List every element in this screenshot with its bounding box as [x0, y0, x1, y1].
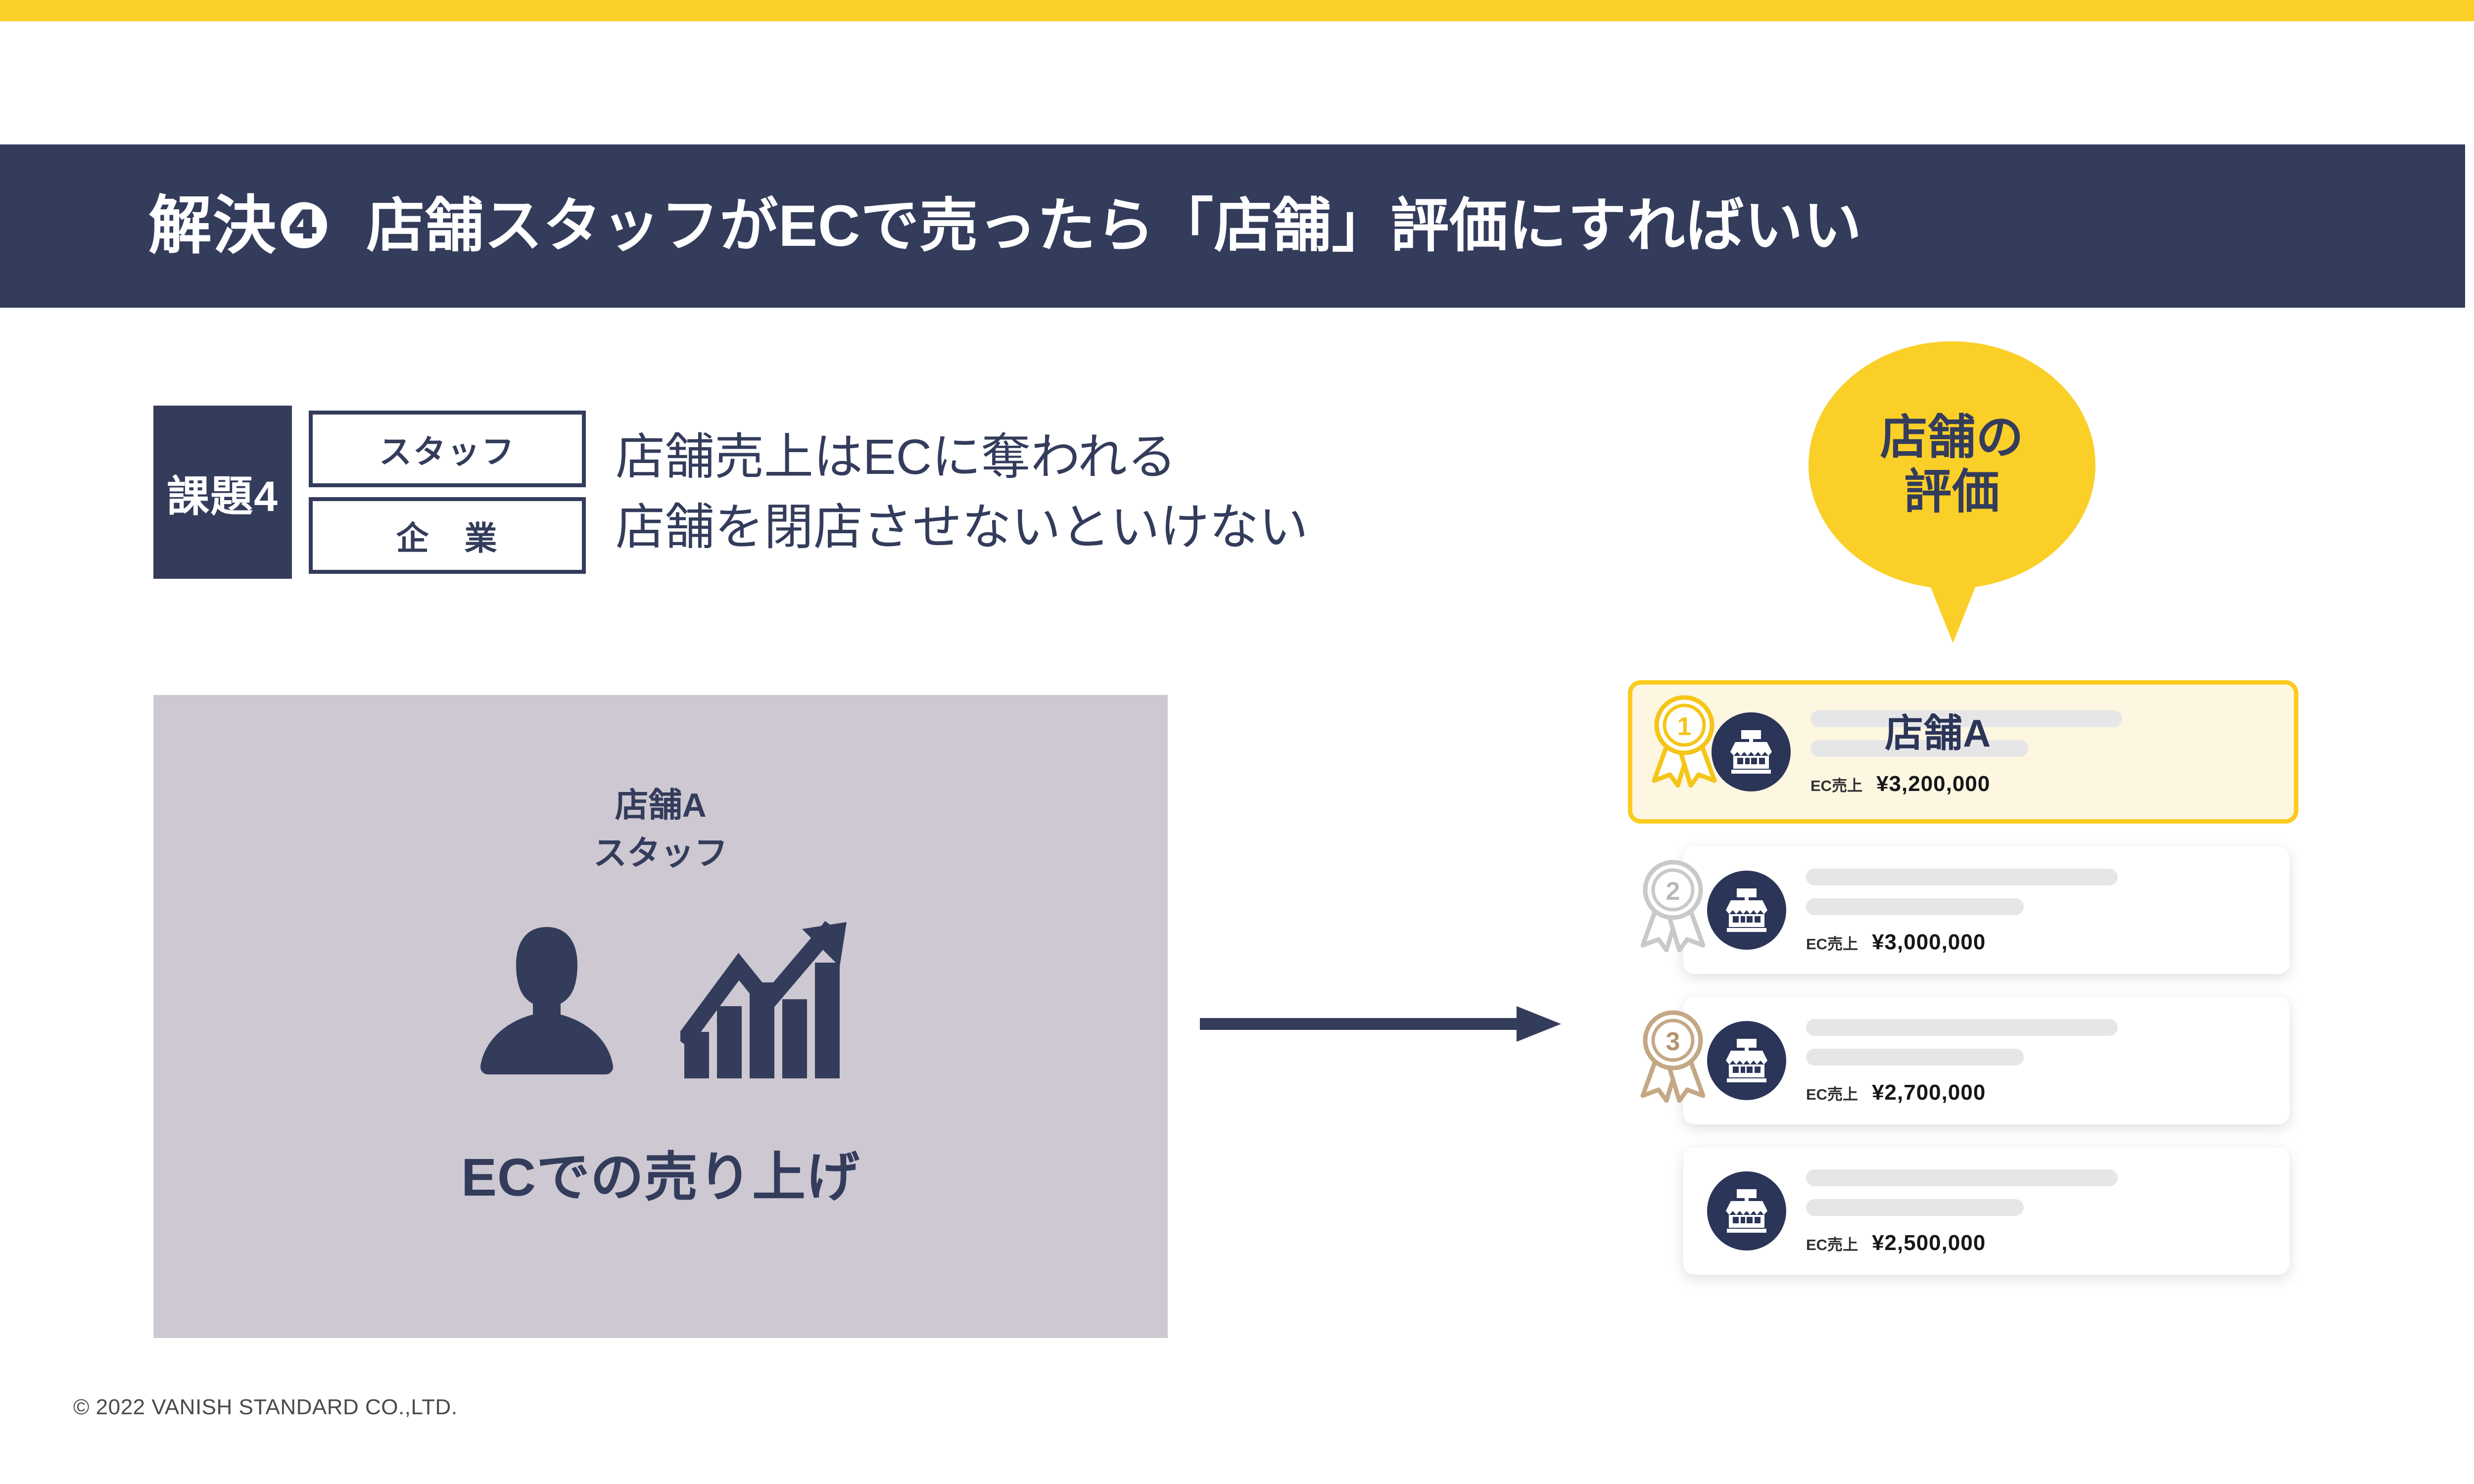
role-box-company: 企 業	[309, 497, 586, 574]
name-placeholder-bar	[1806, 1169, 2118, 1186]
store-info: EC売上 ¥2,700,000	[1806, 1018, 2289, 1103]
sales-value: ¥2,700,000	[1872, 1080, 1986, 1105]
sales-row: EC売上 ¥3,200,000	[1810, 772, 1990, 796]
sales-value: ¥2,500,000	[1872, 1231, 1986, 1255]
subtitle-placeholder-bar	[1806, 1049, 2024, 1066]
sales-label: EC売上	[1806, 931, 1858, 954]
storefront-icon	[1721, 883, 1772, 937]
sales-value: ¥3,200,000	[1876, 772, 1990, 796]
sales-label: EC売上	[1810, 773, 1862, 795]
name-placeholder-bar	[1806, 869, 2118, 885]
gold-medal-ribbon-icon: 1	[1647, 694, 1721, 788]
store-info: EC売上 ¥3,000,000	[1806, 868, 2289, 953]
panel-caption: ECでの売り上げ	[461, 1134, 860, 1211]
role-box-group: スタッフ 企 業	[309, 411, 586, 574]
ec-sales-panel: 店舗A スタッフ ECでの売り上げ	[153, 695, 1168, 1338]
storefront-icon	[1725, 725, 1777, 779]
table-row[interactable]: 3	[1683, 997, 2289, 1124]
sales-row: EC売上 ¥2,700,000	[1806, 1080, 1986, 1105]
callout-line-1: 店舗の	[1880, 412, 2024, 464]
person-silhouette-icon	[473, 919, 621, 1085]
callout-line-2: 評価	[1904, 466, 2000, 518]
role-box-staff: スタッフ	[309, 411, 586, 487]
store-avatar	[1707, 871, 1786, 950]
sales-label: EC売上	[1806, 1082, 1858, 1104]
storefront-icon	[1721, 1034, 1772, 1088]
medal-rank-label: 2	[1666, 877, 1680, 906]
issue-line-2: 店舗を閉店させないといけない	[616, 496, 1308, 559]
page-title: 店舗スタッフがECで売ったら「店舗」評価にすればいい	[366, 197, 1862, 255]
issue-row: 課題4 スタッフ 企 業 店舗売上はECに奪われる 店舗を閉店させないといけない	[153, 406, 1308, 579]
panel-icon-row	[473, 917, 849, 1085]
store-info: 店舗A EC売上 ¥3,200,000	[1810, 709, 2294, 794]
silver-medal-ribbon-icon: 2	[1636, 858, 1710, 952]
storefront-icon	[1721, 1184, 1772, 1238]
issue-text-block: 店舗売上はECに奪われる 店舗を閉店させないといけない	[616, 425, 1308, 559]
store-name: 店舗A	[1885, 702, 1991, 758]
top-accent-strip	[0, 0, 2474, 21]
store-info: EC売上 ¥2,500,000	[1806, 1168, 2289, 1253]
panel-title: 店舗A スタッフ	[593, 782, 728, 877]
panel-title-line-1: 店舗A	[593, 782, 728, 830]
bronze-medal-ribbon-icon: 3	[1636, 1009, 1710, 1103]
table-row[interactable]: 2	[1683, 846, 2289, 974]
store-ranking-list: 1	[1628, 680, 2331, 1298]
table-row[interactable]: EC売上 ¥2,500,000	[1683, 1147, 2289, 1275]
callout-bubble: 店舗の 評価	[1808, 341, 2095, 589]
medal-rank-label: 3	[1666, 1027, 1680, 1056]
subtitle-placeholder-bar	[1806, 898, 2024, 915]
store-avatar	[1707, 1021, 1786, 1100]
store-avatar	[1712, 712, 1791, 791]
header-banner: 解決❹ 店舗スタッフがECで売ったら「店舗」評価にすればいい	[0, 144, 2465, 308]
issue-badge: 課題4	[153, 406, 292, 579]
sales-row: EC売上 ¥3,000,000	[1806, 930, 1986, 955]
callout-tail-icon	[1927, 579, 1979, 643]
sales-row: EC売上 ¥2,500,000	[1806, 1231, 1986, 1255]
right-arrow-icon	[1200, 999, 1561, 1059]
panel-title-line-2: スタッフ	[593, 830, 728, 878]
issue-line-1: 店舗売上はECに奪われる	[616, 425, 1308, 489]
medal-rank-label: 1	[1677, 712, 1692, 741]
name-placeholder-bar	[1806, 1019, 2118, 1036]
store-avatar	[1707, 1171, 1786, 1251]
solution-label: 解決❹	[148, 194, 332, 258]
growth-bar-chart-icon	[680, 919, 849, 1085]
copyright-text: © 2022 VANISH STANDARD CO.,LTD.	[73, 1395, 458, 1420]
store-evaluation-callout: 店舗の 評価	[1808, 341, 2095, 658]
table-row[interactable]: 1	[1628, 680, 2298, 824]
sales-label: EC売上	[1806, 1232, 1858, 1254]
subtitle-placeholder-bar	[1806, 1199, 2024, 1216]
sales-value: ¥3,000,000	[1872, 930, 1986, 955]
